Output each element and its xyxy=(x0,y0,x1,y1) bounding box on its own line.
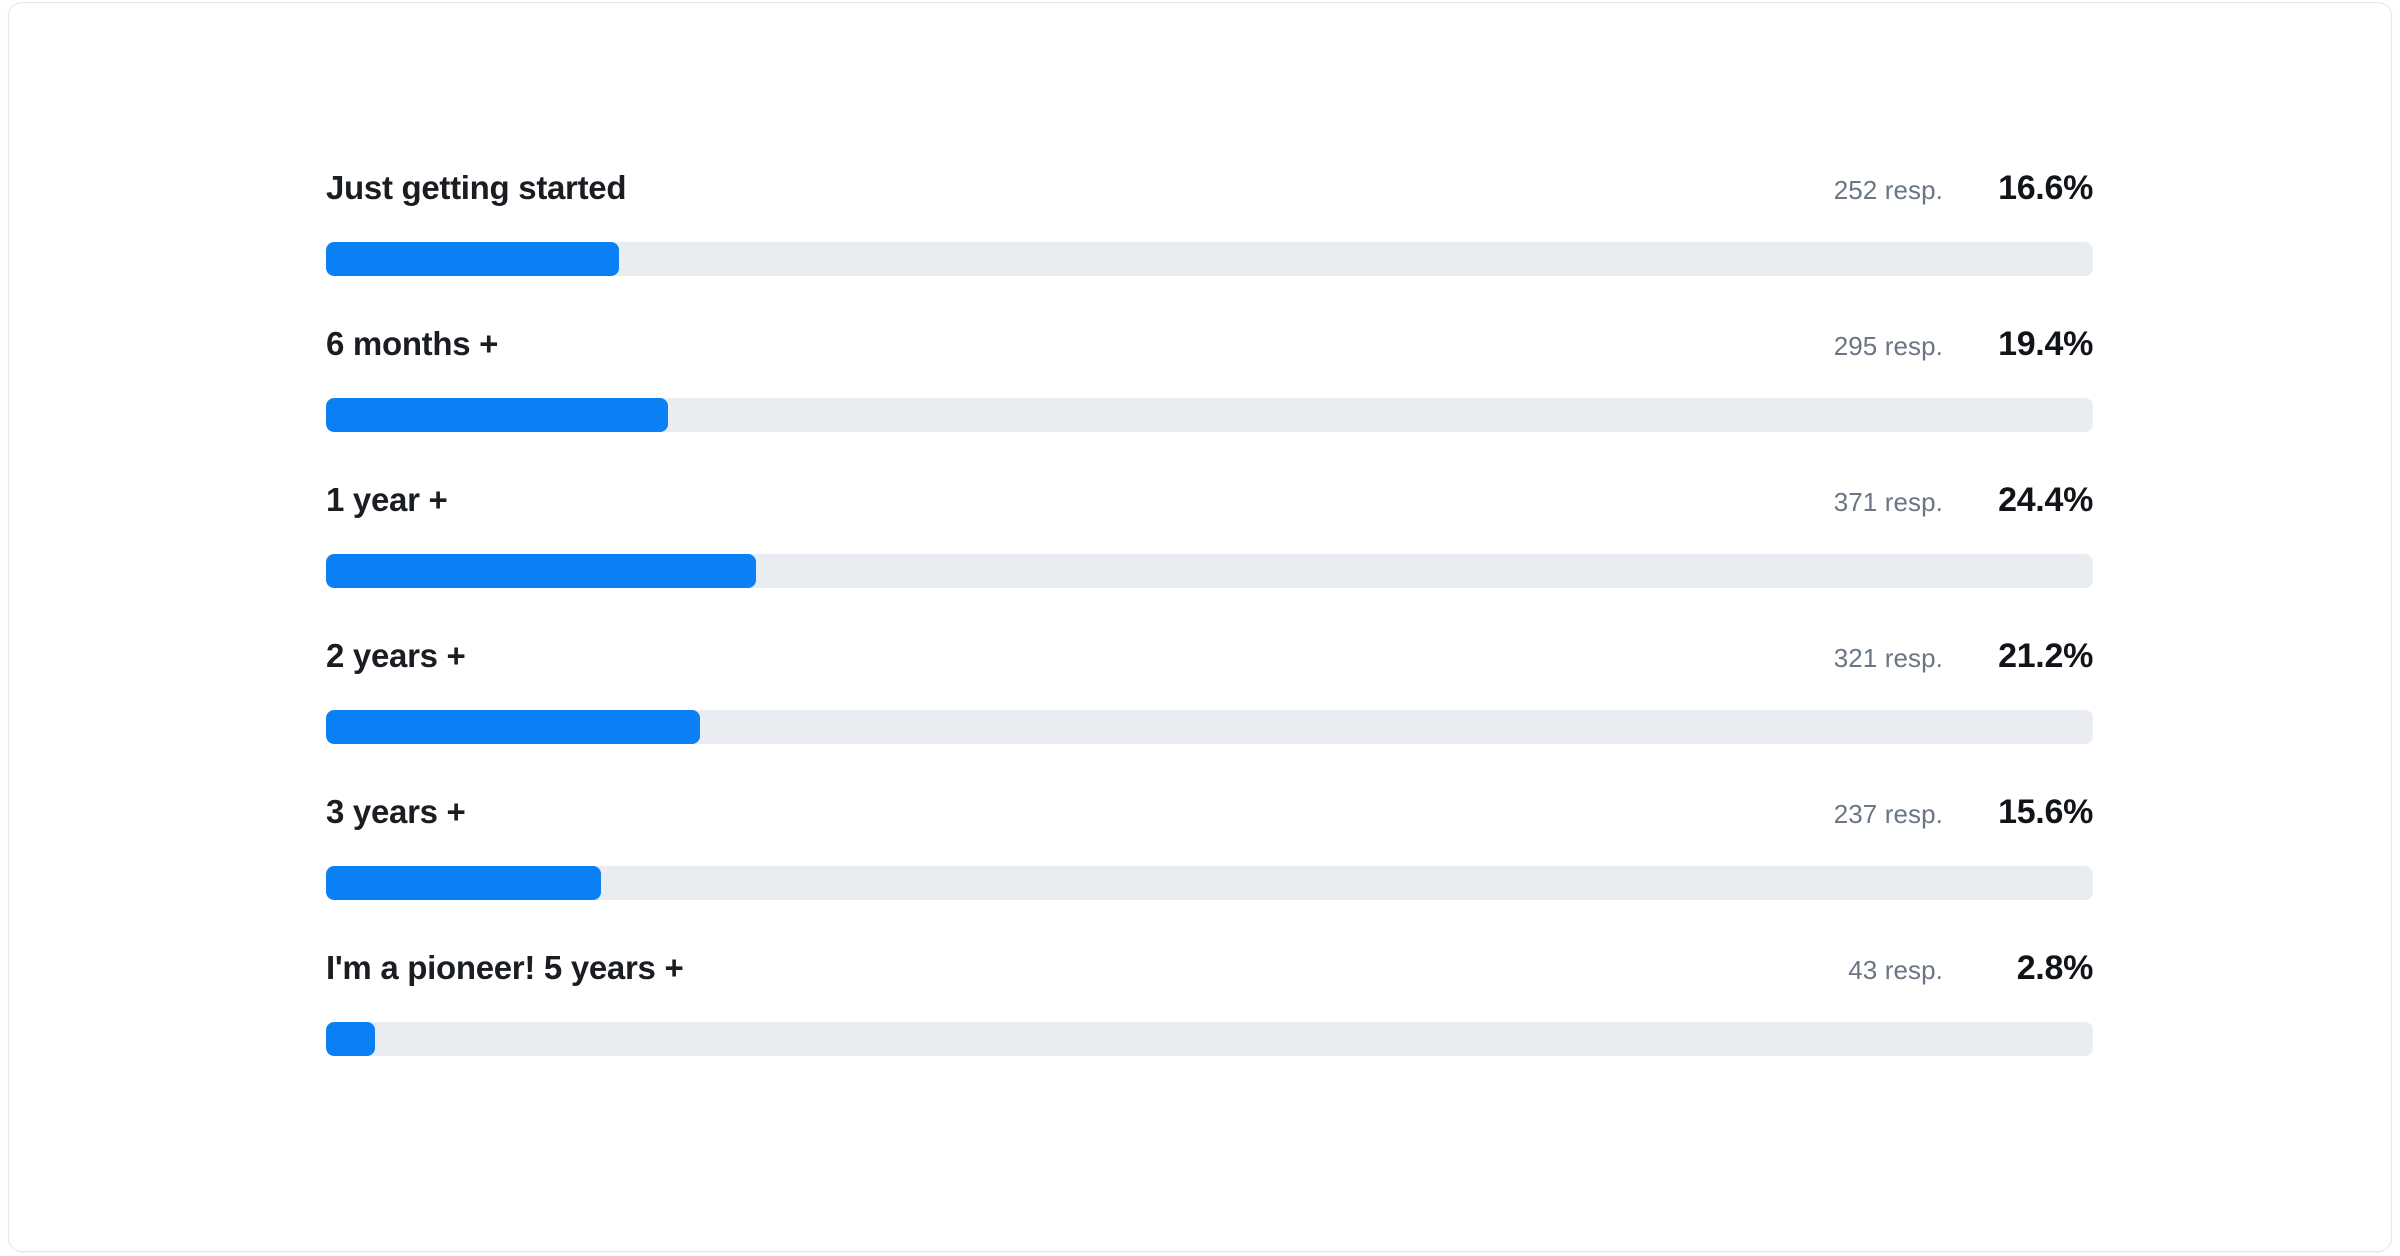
bar-track xyxy=(326,398,2093,432)
bar-track xyxy=(326,866,2093,900)
row-header: 6 months + 295 resp. 19.4% xyxy=(326,327,2093,383)
bar-fill xyxy=(326,242,619,276)
screen: Just getting started 252 resp. 16.6% 6 m… xyxy=(0,0,2400,1256)
row-stats: 371 resp. 24.4% xyxy=(1834,483,2093,517)
row-percentage: 24.4% xyxy=(1969,483,2093,517)
row-header: 1 year + 371 resp. 24.4% xyxy=(326,483,2093,539)
row-response-count: 237 resp. xyxy=(1834,801,1943,827)
chart-row-2[interactable]: 1 year + 371 resp. 24.4% xyxy=(326,483,2093,603)
row-stats: 252 resp. 16.6% xyxy=(1834,171,2093,205)
row-header: I'm a pioneer! 5 years + 43 resp. 2.8% xyxy=(326,951,2093,1007)
bar-track xyxy=(326,710,2093,744)
chart-row-1[interactable]: 6 months + 295 resp. 19.4% xyxy=(326,327,2093,447)
row-label: 1 year + xyxy=(326,483,447,516)
row-response-count: 43 resp. xyxy=(1848,957,1943,983)
row-percentage: 19.4% xyxy=(1969,327,2093,361)
horizontal-bar-chart: Just getting started 252 resp. 16.6% 6 m… xyxy=(326,171,2093,1071)
row-label: I'm a pioneer! 5 years + xyxy=(326,951,683,984)
bar-fill xyxy=(326,398,668,432)
chart-row-0[interactable]: Just getting started 252 resp. 16.6% xyxy=(326,171,2093,291)
row-header: 2 years + 321 resp. 21.2% xyxy=(326,639,2093,695)
row-label: 3 years + xyxy=(326,795,466,828)
row-label: Just getting started xyxy=(326,171,626,204)
bar-fill xyxy=(326,554,756,588)
row-stats: 43 resp. 2.8% xyxy=(1848,951,2093,985)
row-response-count: 321 resp. xyxy=(1834,645,1943,671)
chart-row-3[interactable]: 2 years + 321 resp. 21.2% xyxy=(326,639,2093,759)
row-label: 6 months + xyxy=(326,327,498,360)
bar-track xyxy=(326,554,2093,588)
row-percentage: 21.2% xyxy=(1969,639,2093,673)
bar-fill xyxy=(326,710,700,744)
row-stats: 295 resp. 19.4% xyxy=(1834,327,2093,361)
row-percentage: 16.6% xyxy=(1969,171,2093,205)
row-header: Just getting started 252 resp. 16.6% xyxy=(326,171,2093,227)
bar-fill xyxy=(326,866,601,900)
row-stats: 321 resp. 21.2% xyxy=(1834,639,2093,673)
bar-track xyxy=(326,242,2093,276)
chart-row-5[interactable]: I'm a pioneer! 5 years + 43 resp. 2.8% xyxy=(326,951,2093,1071)
row-stats: 237 resp. 15.6% xyxy=(1834,795,2093,829)
row-response-count: 295 resp. xyxy=(1834,333,1943,359)
bar-track xyxy=(326,1022,2093,1056)
row-response-count: 252 resp. xyxy=(1834,177,1943,203)
row-header: 3 years + 237 resp. 15.6% xyxy=(326,795,2093,851)
row-label: 2 years + xyxy=(326,639,466,672)
row-percentage: 2.8% xyxy=(1969,951,2093,985)
row-response-count: 371 resp. xyxy=(1834,489,1943,515)
chart-row-4[interactable]: 3 years + 237 resp. 15.6% xyxy=(326,795,2093,915)
row-percentage: 15.6% xyxy=(1969,795,2093,829)
results-card: Just getting started 252 resp. 16.6% 6 m… xyxy=(8,2,2392,1252)
bar-fill xyxy=(326,1022,375,1056)
